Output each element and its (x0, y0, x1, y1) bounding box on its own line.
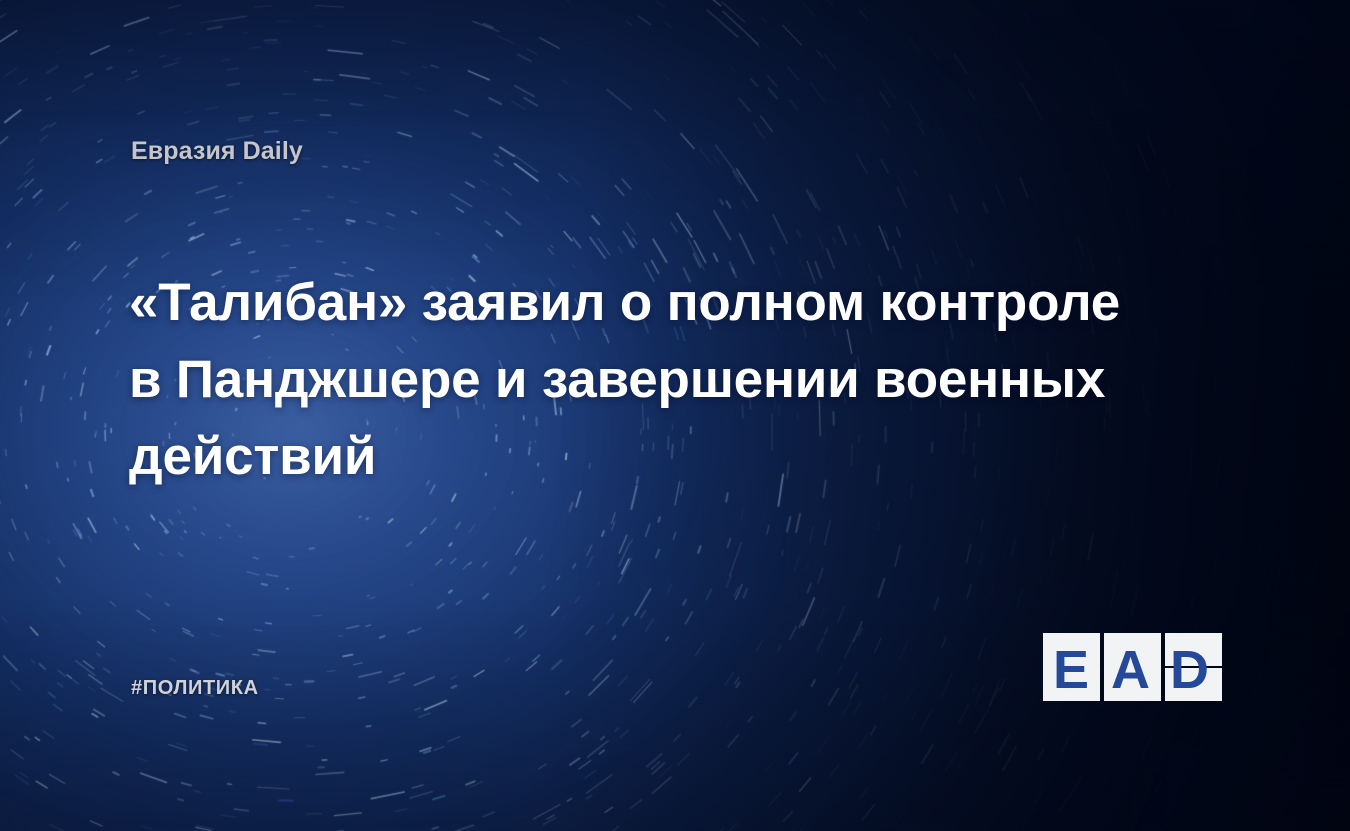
logo-letter-d: D (1170, 643, 1209, 697)
news-card: Евразия Daily «Талибан» заявил о полном … (0, 0, 1350, 831)
category-tag[interactable]: #ПОЛИТИКА (131, 677, 259, 700)
logo-letter-e: E (1053, 643, 1089, 697)
ead-logo[interactable]: E A D (1043, 627, 1223, 707)
logo-letter-a: A (1111, 643, 1150, 697)
brand-name[interactable]: Евразия Daily (131, 137, 303, 166)
headline-title: «Талибан» заявил о полном контроле в Пан… (129, 264, 1159, 495)
